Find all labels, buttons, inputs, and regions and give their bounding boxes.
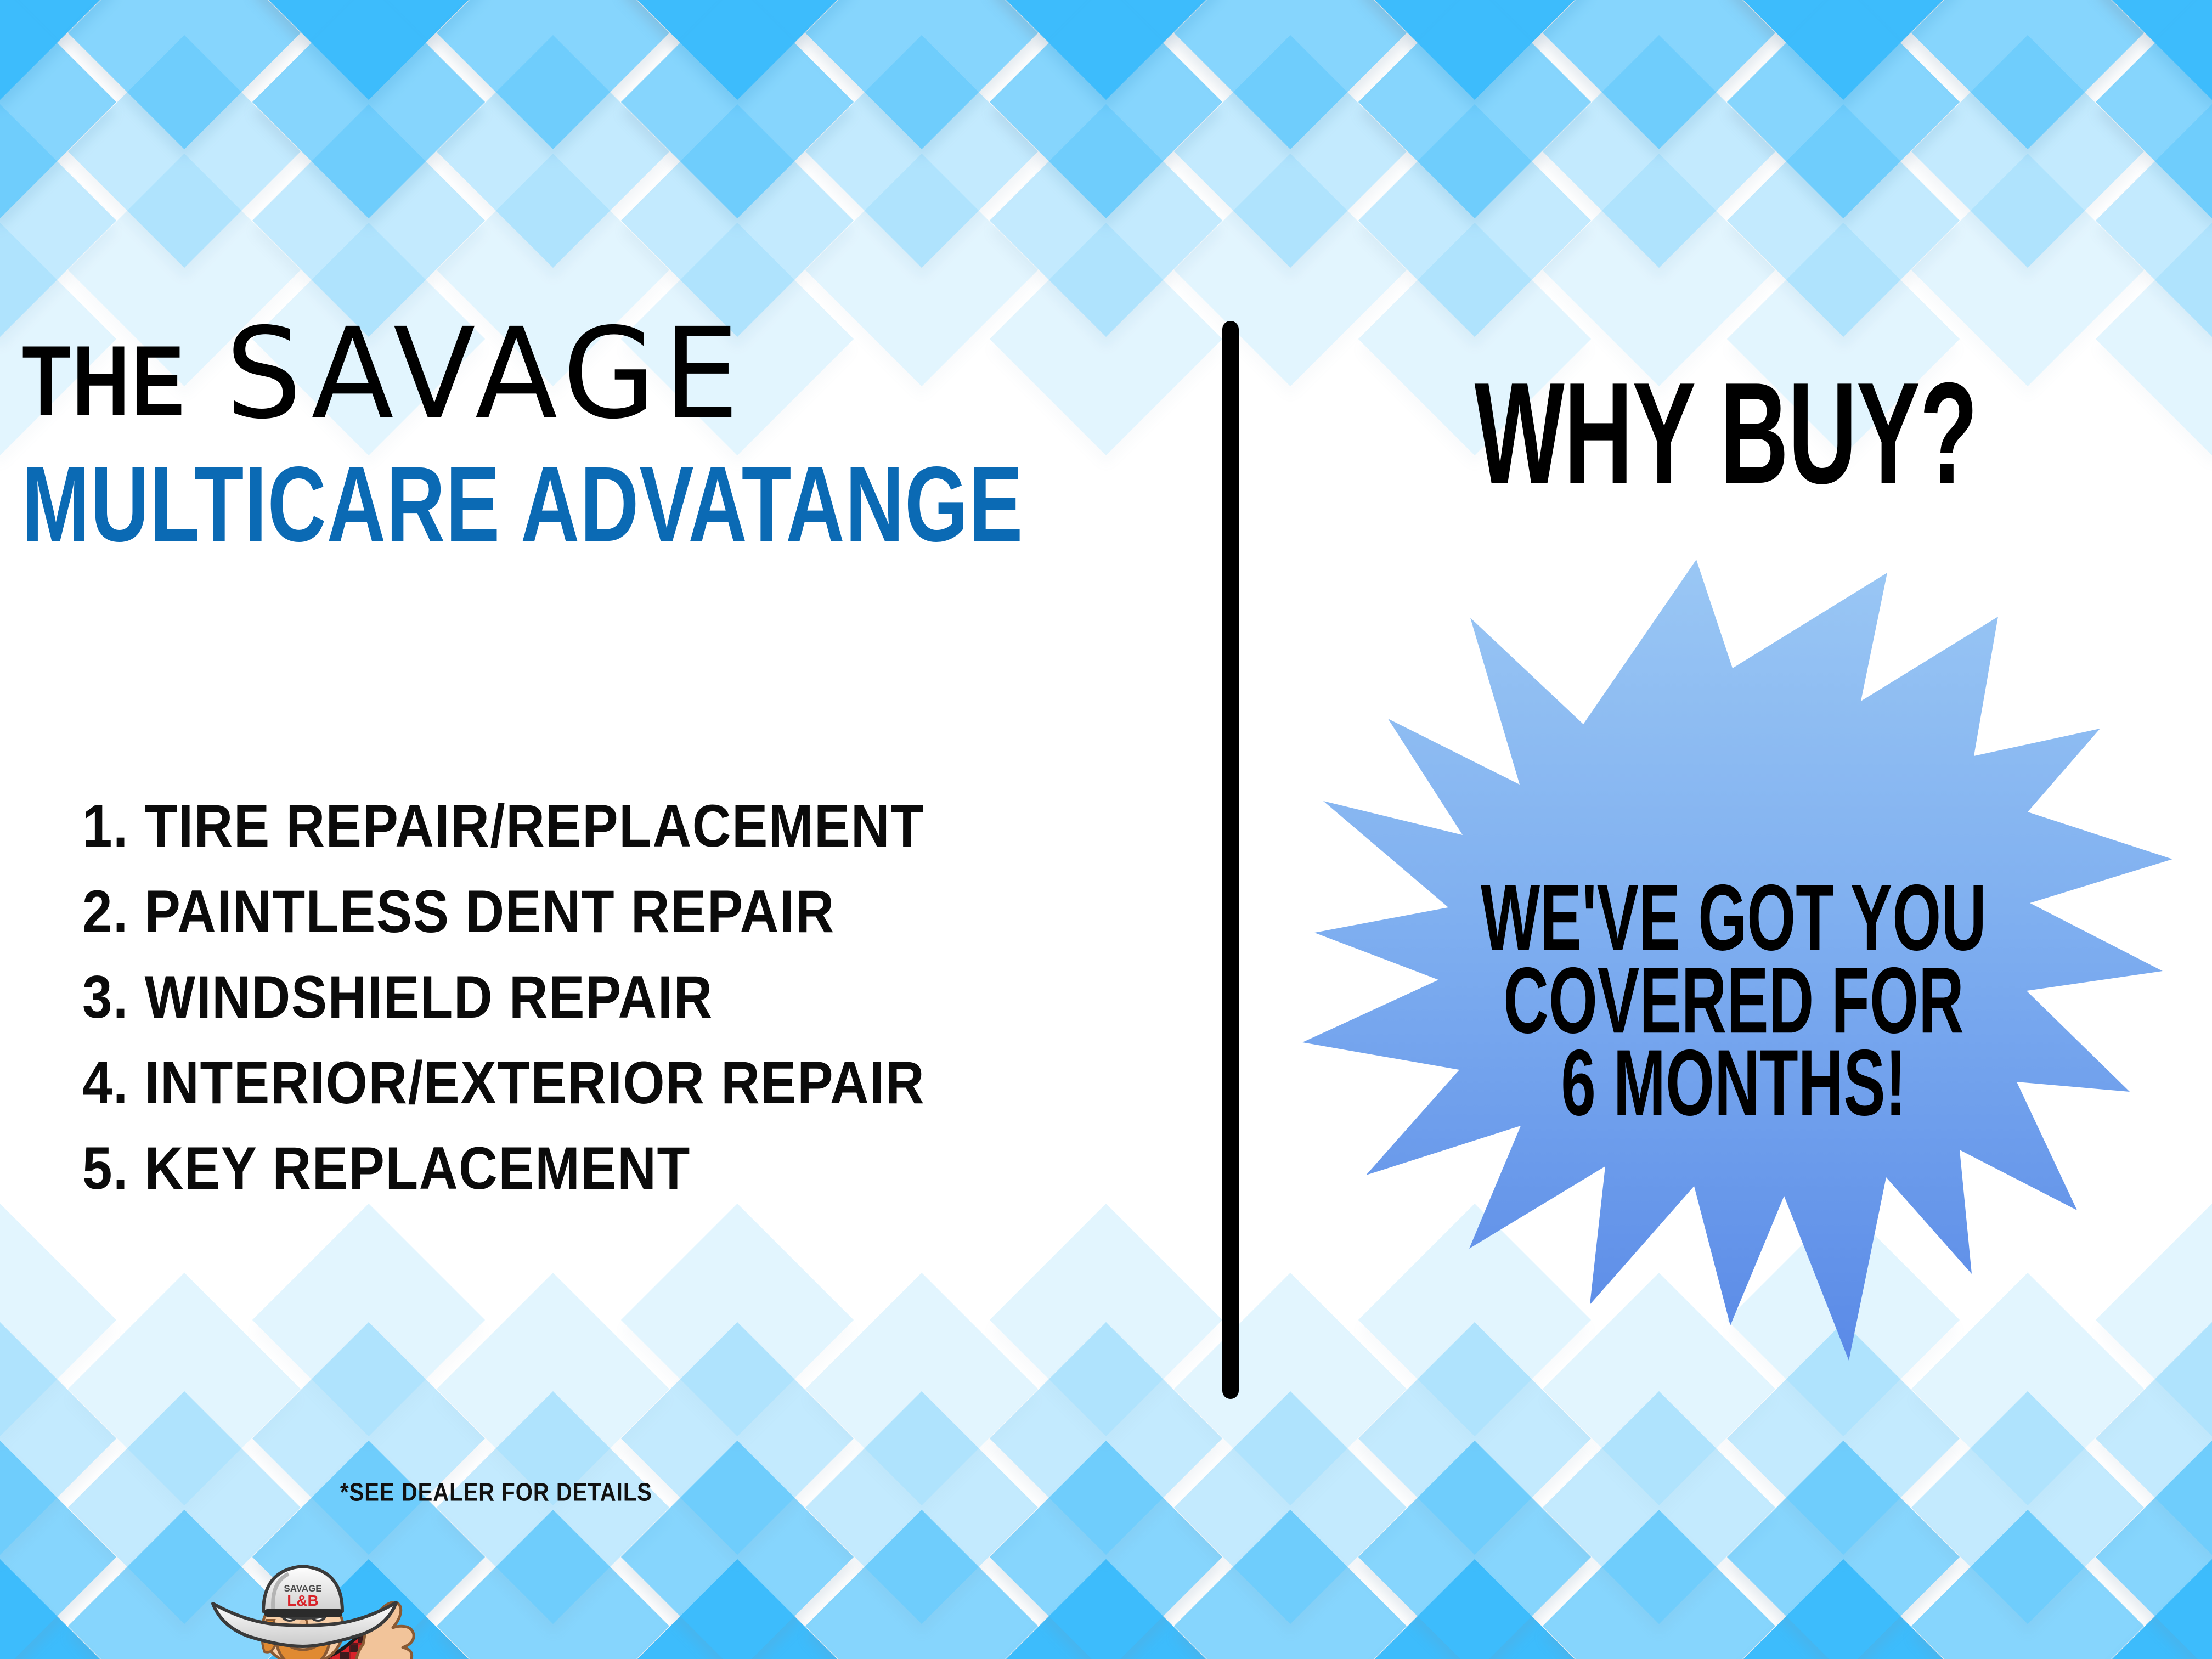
background-diamond <box>990 0 1222 100</box>
background-diamond <box>1543 35 1775 268</box>
why-buy-headline: WHY BUY? <box>1269 362 2183 506</box>
background-diamond <box>252 0 485 218</box>
background-diamond <box>1727 0 1960 218</box>
poster-canvas: THE SAVAGE MULTICARE ADVATANGE 1. TIRE R… <box>0 0 2212 1659</box>
list-item: 2. PAINTLESS DENT REPAIR <box>82 881 1180 941</box>
title-savage: SAVAGE <box>225 311 746 436</box>
right-panel: WHY BUY? WE'VE GOT YOU COVERED FOR 6 MON… <box>1240 296 2212 1659</box>
background-diamond <box>990 0 1222 218</box>
background-diamond <box>252 0 485 100</box>
background-diamond <box>1358 0 1591 100</box>
title-the: THE <box>22 331 186 431</box>
left-panel: THE SAVAGE MULTICARE ADVATANGE 1. TIRE R… <box>0 296 1196 1659</box>
background-diamond <box>805 35 1038 268</box>
list-item: 1. TIRE REPAIR/REPLACEMENT <box>82 795 1180 856</box>
background-diamond <box>1543 0 1775 149</box>
starburst-shape <box>1302 560 2172 1361</box>
services-list: 1. TIRE REPAIR/REPLACEMENT 2. PAINTLESS … <box>82 795 1180 1223</box>
list-item: 5. KEY REPLACEMENT <box>82 1138 1180 1198</box>
background-diamond <box>0 0 116 100</box>
list-item: 4. INTERIOR/EXTERIOR REPAIR <box>82 1052 1180 1113</box>
background-diamond <box>805 0 1038 149</box>
title-subtitle: MULTICARE ADVATANGE <box>22 450 1023 557</box>
background-diamond <box>1911 35 2144 268</box>
background-diamond <box>437 0 669 149</box>
background-diamond <box>68 35 301 268</box>
background-diamond <box>1727 0 1960 100</box>
background-diamond <box>621 0 854 100</box>
background-diamond <box>2096 0 2212 218</box>
title-block: THE SAVAGE MULTICARE ADVATANGE <box>22 318 1174 533</box>
background-diamond <box>1174 35 1407 268</box>
background-diamond <box>2096 0 2212 100</box>
starburst-badge <box>1289 554 2178 1366</box>
list-item: 3. WINDSHIELD REPAIR <box>82 967 1180 1027</box>
cowboy-mascot-illustration: SAVAGE L&B <box>181 1550 422 1659</box>
background-diamond <box>1174 0 1407 149</box>
background-diamond <box>437 35 669 268</box>
vertical-divider <box>1222 321 1239 1399</box>
mascot-hat-band <box>264 1609 342 1617</box>
background-diamond <box>1358 0 1591 218</box>
title-primary-row: THE SAVAGE <box>22 318 1174 436</box>
background-diamond <box>68 0 301 149</box>
disclaimer-text: *SEE DEALER FOR DETAILS <box>340 1479 652 1507</box>
background-diamond <box>1911 0 2144 149</box>
hat-logo-lb-text: L&B <box>287 1592 319 1609</box>
background-diamond <box>621 0 854 218</box>
background-diamond <box>0 0 116 218</box>
